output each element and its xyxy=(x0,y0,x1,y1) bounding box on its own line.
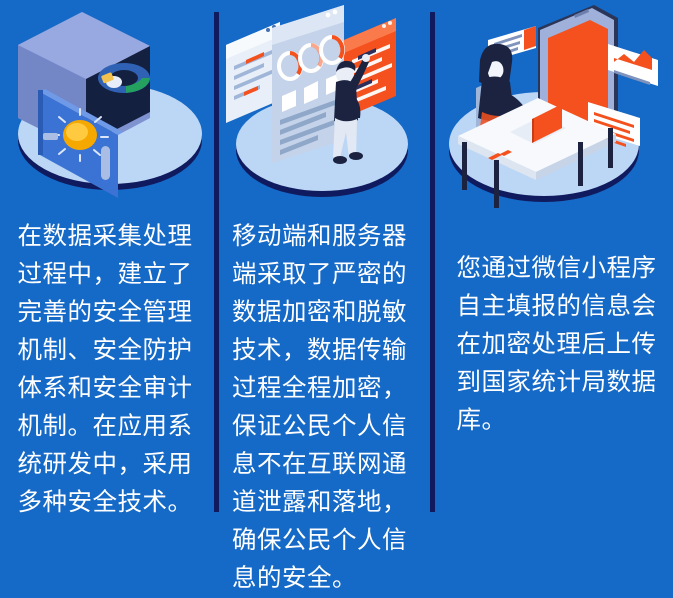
panel-caption-data-encryption: 移动端和服务器端采取了严密的数据加密和脱敏技术，数据传输过程全程加密，保证公民个… xyxy=(232,212,420,598)
poster-container: 在数据采集处理过程中，建立了完善的安全管理机制、安全防护体系和安全审计机制。在应… xyxy=(0,0,673,512)
panel-security-management: 在数据采集处理过程中，建立了完善的安全管理机制、安全防护体系和安全审计机制。在应… xyxy=(0,0,216,512)
person-dashboard-windows-illustration xyxy=(216,0,432,212)
panel-data-encryption: 移动端和服务器端采取了严密的数据加密和脱敏技术，数据传输过程全程加密，保证公民个… xyxy=(216,0,432,512)
open-safe-vault-illustration xyxy=(0,0,216,212)
panel-wechat-upload: 您通过微信小程序自主填报的信息会在加密处理后上传到国家统计局数据库。 xyxy=(432,0,673,512)
panel-divider-2 xyxy=(430,12,435,512)
panel-caption-security-management: 在数据采集处理过程中，建立了完善的安全管理机制、安全防护体系和安全审计机制。在应… xyxy=(18,212,203,522)
person-desk-laptop-phone-illustration xyxy=(432,0,673,212)
panel-divider-1 xyxy=(214,12,219,512)
panel-caption-wechat-upload: 您通过微信小程序自主填报的信息会在加密处理后上传到国家统计局数据库。 xyxy=(457,212,657,440)
